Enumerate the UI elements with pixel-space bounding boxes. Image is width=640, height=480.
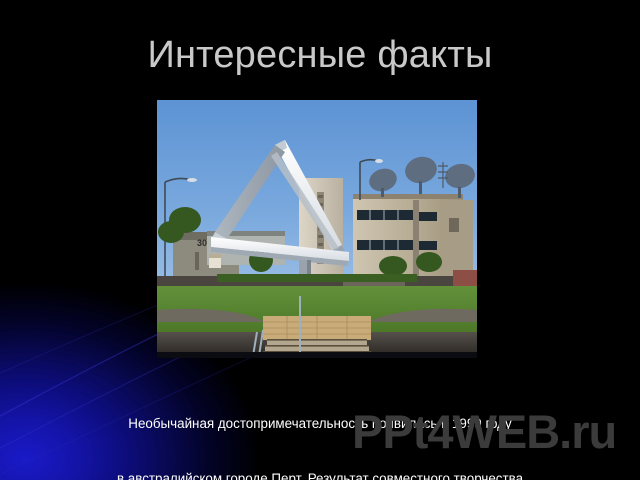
svg-text:30: 30 (197, 238, 207, 248)
presentation-slide: Интересные факты (0, 0, 640, 480)
impossible-triangle-photo: 30 (157, 100, 477, 358)
slide-title: Интересные факты (0, 32, 640, 78)
slide-caption: Необычайная достопримечательность появил… (36, 378, 604, 480)
slide-image: 30 (157, 100, 477, 358)
caption-line: Необычайная достопримечательность появил… (36, 415, 604, 433)
caption-line: в австралийском городе Перт. Результат с… (36, 470, 604, 480)
